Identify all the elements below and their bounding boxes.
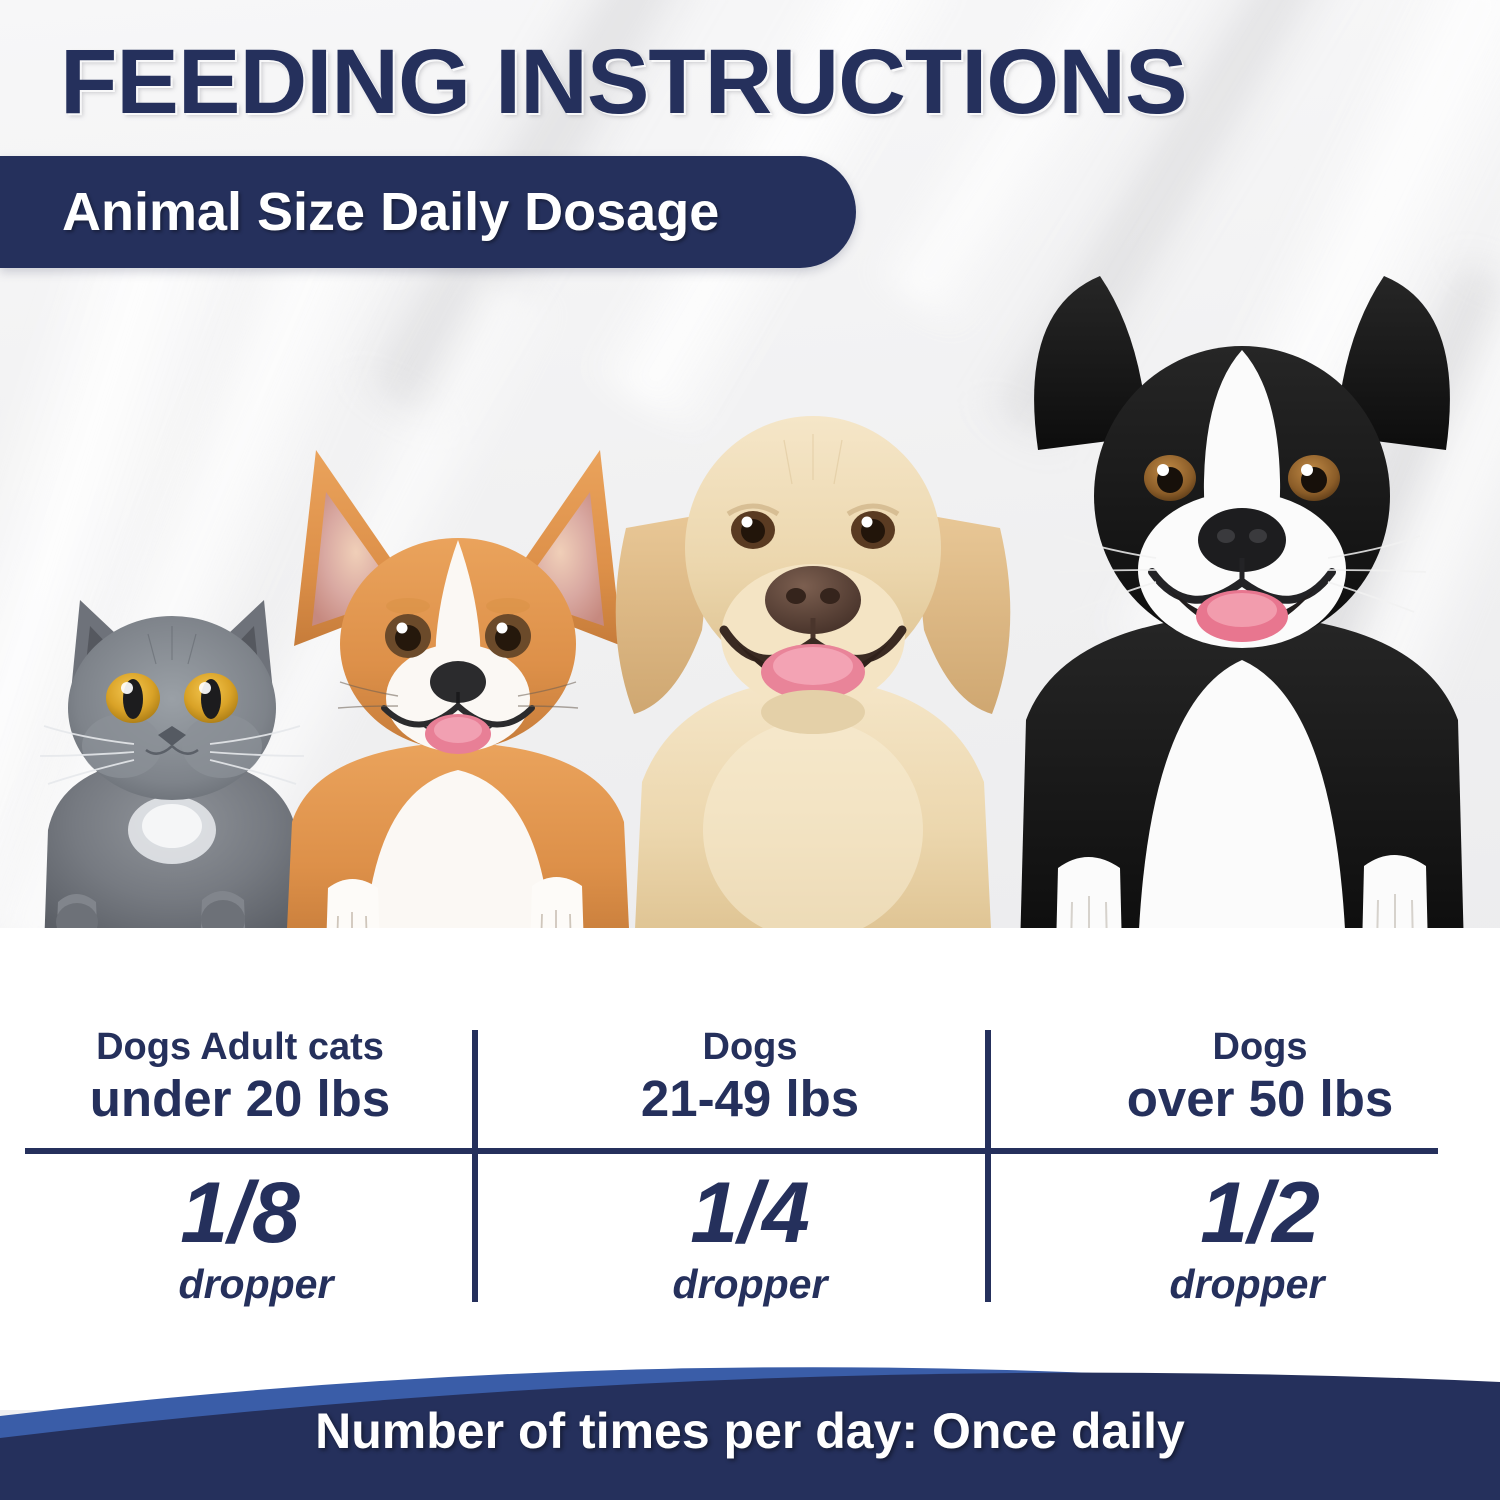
dosage-cell-2: 1/4 dropper xyxy=(530,1170,970,1305)
dosage-amount-1: 1/8 xyxy=(20,1170,460,1256)
labrador-dog-illustration xyxy=(598,330,1028,950)
table-column-header-3: Dogs over 50 lbs xyxy=(1040,1026,1480,1127)
page-title: FEEDING INSTRUCTIONS xyxy=(60,36,1187,128)
subtitle-label: Animal Size Daily Dosage xyxy=(62,181,719,243)
frequency-note: Number of times per day: Once daily xyxy=(0,1402,1500,1460)
column-1-weight-label-line2: under 20 lbs xyxy=(20,1071,460,1127)
footer-banner: Number of times per day: Once daily xyxy=(0,1360,1500,1500)
table-column-header-1: Dogs Adult cats under 20 lbs xyxy=(20,1026,460,1127)
animal-lineup xyxy=(0,250,1500,950)
dosage-unit-1: dropper xyxy=(52,1264,460,1305)
corgi-dog-illustration xyxy=(268,430,648,950)
table-vertical-divider-1 xyxy=(472,1030,478,1302)
column-2-weight-label-line1: Dogs xyxy=(530,1026,970,1069)
dosage-amount-3: 1/2 xyxy=(1040,1170,1480,1256)
feeding-instructions-page: FEEDING INSTRUCTIONS Animal Size Daily D… xyxy=(0,0,1500,1500)
dosage-amount-2: 1/4 xyxy=(530,1170,970,1256)
table-column-header-2: Dogs 21-49 lbs xyxy=(530,1026,970,1127)
subtitle-banner: Animal Size Daily Dosage xyxy=(0,156,856,268)
column-3-weight-label-line1: Dogs xyxy=(1040,1026,1480,1069)
dosage-cell-1: 1/8 dropper xyxy=(20,1170,460,1305)
dosage-cell-3: 1/2 dropper xyxy=(1040,1170,1480,1305)
dosage-unit-2: dropper xyxy=(530,1264,970,1305)
dosage-unit-3: dropper xyxy=(1014,1264,1480,1305)
table-horizontal-divider xyxy=(25,1148,1438,1154)
column-1-weight-label-line1: Dogs Adult cats xyxy=(20,1026,460,1069)
column-2-weight-label-line2: 21-49 lbs xyxy=(530,1071,970,1127)
border-collie-dog-illustration xyxy=(992,250,1492,950)
table-vertical-divider-2 xyxy=(985,1030,991,1302)
column-3-weight-label-line2: over 50 lbs xyxy=(1040,1071,1480,1127)
